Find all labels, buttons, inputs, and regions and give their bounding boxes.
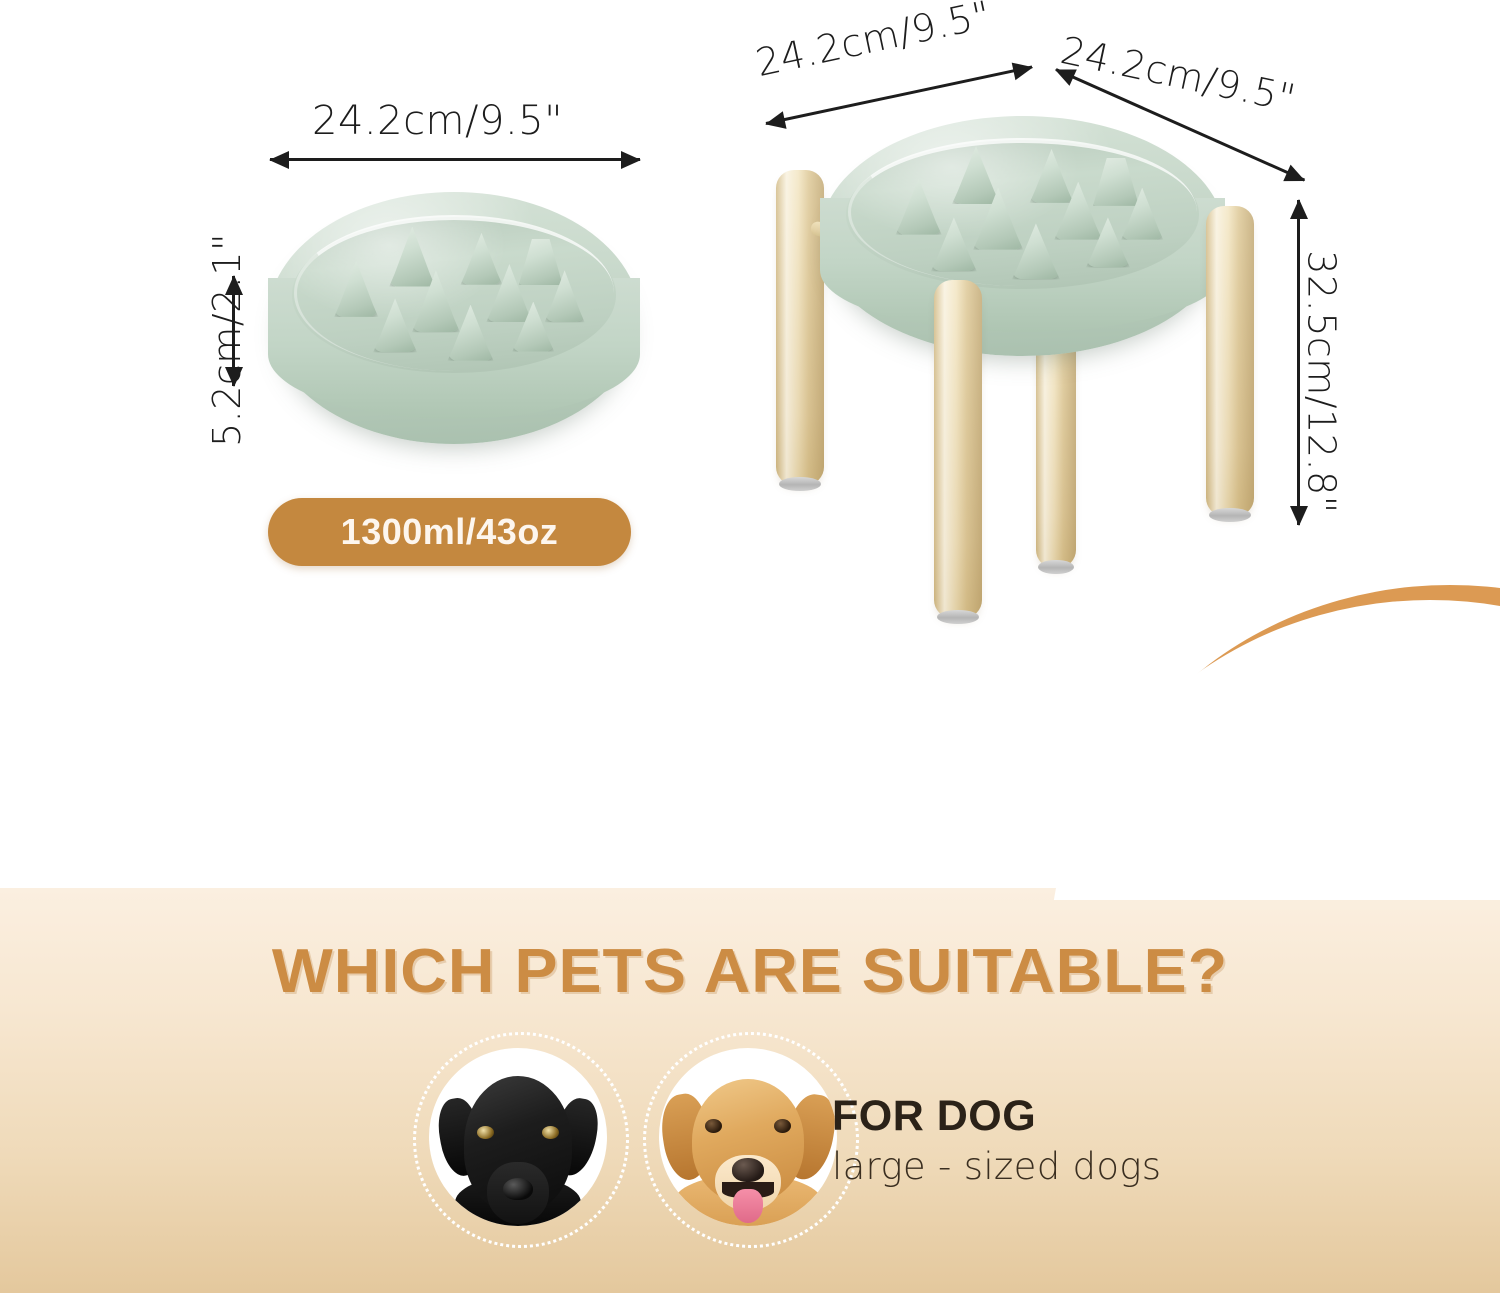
stand-height-label: 32.5cm/12.8": [1300, 250, 1344, 513]
product-dimensions-section: 24.2cm/9.5" 5.2cm/2.1" 1300ml/43oz 24.2c…: [0, 0, 1500, 900]
bowl-height-label: 5.2cm/2.1": [205, 233, 249, 447]
pet-category-title: FOR DOG: [832, 1093, 1161, 1139]
stand-diameter-left-label: 24.2cm/9.5": [752, 0, 995, 85]
retriever-tongue: [733, 1189, 763, 1223]
bowl-rim-highlight: [294, 215, 614, 371]
elevated-bowl-stand-image: [762, 108, 1282, 653]
slow-feeder-bowl-image: [268, 192, 640, 444]
stand-leg-front-right: [1206, 206, 1254, 516]
bowl-diameter-label: 24.2cm/9.5": [312, 98, 563, 144]
pet-category-subtitle: large - sized dogs: [832, 1145, 1161, 1188]
bowl-diameter-arrow: [270, 158, 640, 161]
bowl-rim-highlight: [848, 138, 1196, 287]
pet-suitability-text: FOR DOG large - sized dogs: [832, 1093, 1161, 1188]
pet-photo-golden-retriever: [659, 1048, 837, 1226]
slow-feeder-bowl-on-stand: [820, 116, 1225, 356]
stand-diameter-right-label: 24.2cm/9.5": [1057, 28, 1300, 121]
stand-leg-front-left: [934, 280, 982, 618]
retriever-eye-right: [774, 1119, 791, 1133]
stand-leg-back-right: [1036, 323, 1076, 568]
pet-suitability-section: WHICH PETS ARE SUITABLE?: [0, 888, 1500, 1293]
pet-photo-black-labrador: [429, 1048, 607, 1226]
stand-height-arrow: [1297, 200, 1300, 525]
labrador-nose: [503, 1178, 533, 1200]
section-headline: WHICH PETS ARE SUITABLE?: [0, 936, 1500, 1007]
stand-leg-back-left: [776, 170, 824, 485]
pet-photo-row: [0, 1040, 1500, 1250]
retriever-nose: [732, 1158, 764, 1182]
capacity-badge: 1300ml/43oz: [268, 498, 631, 566]
bowl-height-arrow: [232, 276, 235, 386]
